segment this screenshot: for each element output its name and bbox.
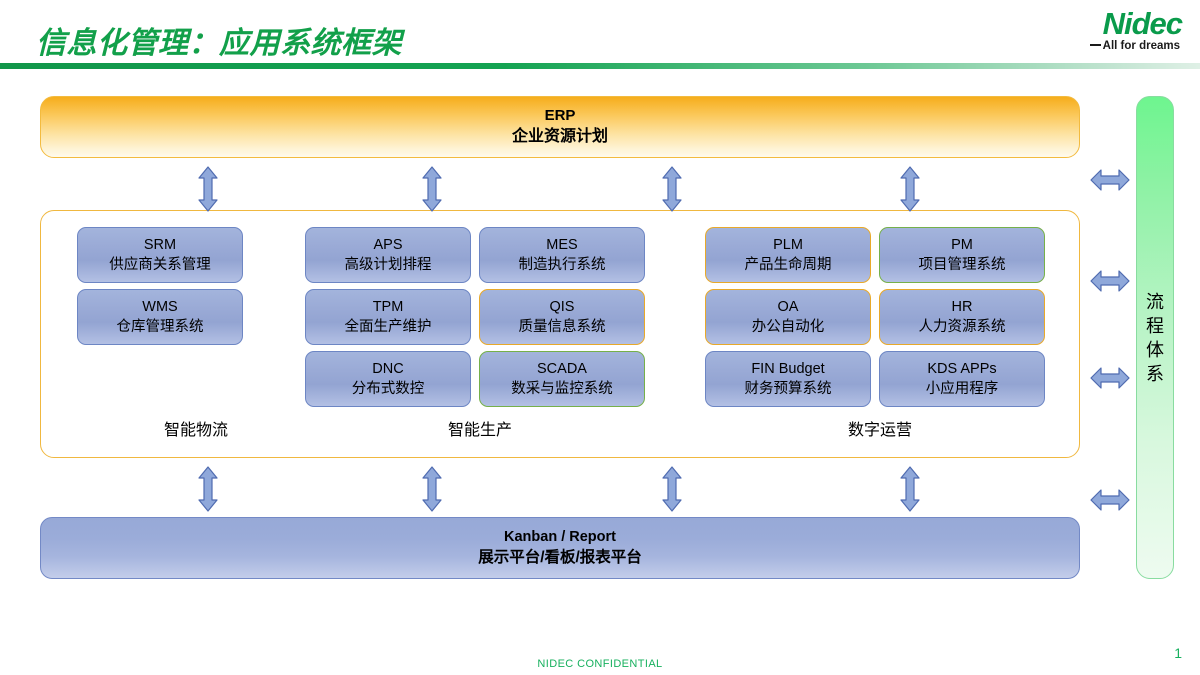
- system-code: QIS: [550, 298, 575, 317]
- system-row: PLM产品生命周期PM项目管理系统: [705, 227, 1045, 283]
- double-arrow-vertical-icon: [197, 166, 219, 212]
- system-name: 仓库管理系统: [117, 317, 204, 337]
- system-code: PM: [951, 236, 973, 255]
- kanban-code: Kanban / Report: [504, 527, 616, 547]
- system-code: OA: [778, 298, 799, 317]
- group-label-production: 智能生产: [305, 416, 655, 440]
- kanban-report-block[interactable]: Kanban / Report 展示平台/看板/报表平台: [40, 517, 1080, 579]
- system-code: APS: [373, 236, 402, 255]
- system-code: SRM: [144, 236, 176, 255]
- process-system-bar[interactable]: 流程体系: [1136, 96, 1174, 579]
- double-arrow-vertical-icon: [661, 166, 683, 212]
- double-arrow-horizontal-icon: [1090, 168, 1130, 192]
- double-arrow-horizontal-icon: [1090, 269, 1130, 293]
- confidential-notice: NIDEC CONFIDENTIAL: [0, 658, 1200, 670]
- group-label-logistics: 智能物流: [77, 416, 315, 440]
- system-card-fin-budget[interactable]: FIN Budget财务预算系统: [705, 351, 871, 407]
- double-arrow-vertical-icon: [899, 166, 921, 212]
- double-arrow-vertical-icon: [421, 466, 443, 512]
- slide-canvas: 信息化管理：应用系统框架 Nidec All for dreams ERP 企业…: [0, 0, 1200, 675]
- system-group-digital-ops: PLM产品生命周期PM项目管理系统OA办公自动化HR人力资源系统FIN Budg…: [705, 211, 1055, 457]
- system-card-mes[interactable]: MES制造执行系统: [479, 227, 645, 283]
- double-arrow-vertical-icon: [899, 466, 921, 512]
- system-code: MES: [546, 236, 577, 255]
- system-name: 财务预算系统: [745, 379, 832, 399]
- system-code: WMS: [142, 298, 177, 317]
- system-name: 小应用程序: [926, 379, 999, 399]
- nidec-logo: Nidec All for dreams: [1014, 8, 1182, 58]
- system-row: FIN Budget财务预算系统KDS APPs小应用程序: [705, 351, 1045, 407]
- system-group-production: APS高级计划排程MES制造执行系统TPM全面生产维护QIS质量信息系统DNC分…: [305, 211, 655, 457]
- system-group-logistics: SRM供应商关系管理WMS仓库管理系统智能物流: [77, 211, 315, 457]
- system-name: 高级计划排程: [345, 255, 432, 275]
- system-card-hr[interactable]: HR人力资源系统: [879, 289, 1045, 345]
- logo-dash-icon: [1090, 44, 1101, 46]
- process-system-label: 流程体系: [1137, 290, 1173, 386]
- erp-code: ERP: [545, 106, 576, 126]
- system-name: 办公自动化: [752, 317, 825, 337]
- system-row: APS高级计划排程MES制造执行系统: [305, 227, 645, 283]
- erp-block[interactable]: ERP 企业资源计划: [40, 96, 1080, 158]
- header-divider: [0, 63, 1200, 69]
- system-code: DNC: [372, 360, 403, 379]
- logo-wordmark: Nidec: [1014, 8, 1182, 40]
- system-card-kds-apps[interactable]: KDS APPs小应用程序: [879, 351, 1045, 407]
- system-name: 项目管理系统: [919, 255, 1006, 275]
- kanban-name: 展示平台/看板/报表平台: [478, 547, 642, 569]
- system-card-wms[interactable]: WMS仓库管理系统: [77, 289, 243, 345]
- system-card-pm[interactable]: PM项目管理系统: [879, 227, 1045, 283]
- system-card-qis[interactable]: QIS质量信息系统: [479, 289, 645, 345]
- system-code: KDS APPs: [927, 360, 996, 379]
- double-arrow-vertical-icon: [197, 466, 219, 512]
- system-row: SRM供应商关系管理: [77, 227, 243, 283]
- system-name: 分布式数控: [352, 379, 425, 399]
- double-arrow-vertical-icon: [661, 466, 683, 512]
- system-name: 人力资源系统: [919, 317, 1006, 337]
- system-row: TPM全面生产维护QIS质量信息系统: [305, 289, 645, 345]
- group-label-digital-ops: 数字运营: [705, 416, 1055, 440]
- system-card-dnc[interactable]: DNC分布式数控: [305, 351, 471, 407]
- system-card-plm[interactable]: PLM产品生命周期: [705, 227, 871, 283]
- system-card-oa[interactable]: OA办公自动化: [705, 289, 871, 345]
- system-code: PLM: [773, 236, 803, 255]
- system-card-scada[interactable]: SCADA数采与监控系统: [479, 351, 645, 407]
- system-name: 数采与监控系统: [511, 379, 613, 399]
- erp-name: 企业资源计划: [512, 126, 608, 148]
- system-code: TPM: [373, 298, 404, 317]
- system-code: HR: [952, 298, 973, 317]
- logo-tagline-row: All for dreams: [1014, 40, 1182, 53]
- system-row: OA办公自动化HR人力资源系统: [705, 289, 1045, 345]
- systems-container: SRM供应商关系管理WMS仓库管理系统智能物流APS高级计划排程MES制造执行系…: [40, 210, 1080, 458]
- system-code: FIN Budget: [751, 360, 824, 379]
- system-name: 全面生产维护: [345, 317, 432, 337]
- system-row: WMS仓库管理系统: [77, 289, 243, 345]
- logo-tagline: All for dreams: [1103, 40, 1180, 52]
- page-title: 信息化管理：应用系统框架: [36, 18, 402, 62]
- system-row: DNC分布式数控SCADA数采与监控系统: [305, 351, 645, 407]
- system-card-srm[interactable]: SRM供应商关系管理: [77, 227, 243, 283]
- page-number: 1: [1174, 645, 1182, 661]
- system-code: SCADA: [537, 360, 587, 379]
- system-name: 质量信息系统: [519, 317, 606, 337]
- system-card-aps[interactable]: APS高级计划排程: [305, 227, 471, 283]
- system-name: 供应商关系管理: [109, 255, 211, 275]
- system-name: 产品生命周期: [745, 255, 832, 275]
- system-card-tpm[interactable]: TPM全面生产维护: [305, 289, 471, 345]
- double-arrow-horizontal-icon: [1090, 366, 1130, 390]
- system-name: 制造执行系统: [519, 255, 606, 275]
- double-arrow-vertical-icon: [421, 166, 443, 212]
- double-arrow-horizontal-icon: [1090, 488, 1130, 512]
